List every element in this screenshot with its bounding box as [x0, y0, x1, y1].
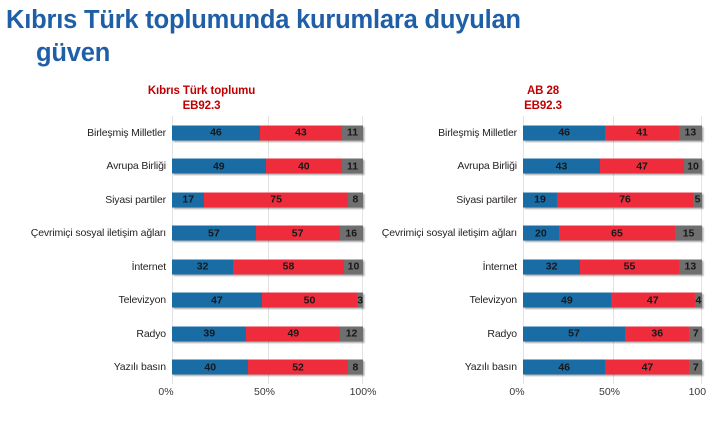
page-title-line-1: Kıbrıs Türk toplumunda kurumlara duyulan — [6, 6, 521, 34]
stacked-bar: 434710 — [523, 159, 702, 174]
bar-segment-distrust: 41 — [605, 125, 678, 140]
bar-row: Radyo394912 — [18, 317, 363, 351]
bar-track: 464311 — [172, 116, 363, 150]
bar-segment-trust: 49 — [523, 293, 611, 308]
bar-row-label: Radyo — [18, 328, 172, 340]
bar-segment-dont-know: 4 — [695, 293, 702, 308]
bar-segment-distrust: 47 — [605, 360, 689, 375]
axis-tick: 0% — [158, 386, 173, 398]
bar-track: 46477 — [523, 351, 702, 385]
chart-subtitle-right-title: AB 28 — [384, 84, 702, 99]
bar-row-label: Yazılı basın — [372, 361, 523, 373]
bar-row: Çevrimiçi sosyal iletişim ağları575716 — [18, 217, 363, 251]
bar-row-label: Siyasi partiler — [372, 194, 523, 206]
bar-segment-distrust: 36 — [625, 326, 689, 341]
bar-segment-dont-know: 12 — [340, 326, 363, 341]
stacked-bar: 49474 — [523, 293, 702, 308]
x-axis-right: 0%50%100% — [372, 384, 702, 404]
bar-segment-distrust: 47 — [600, 159, 684, 174]
bar-segment-dont-know: 16 — [340, 226, 364, 241]
bar-segment-trust: 57 — [523, 326, 625, 341]
bar-row: Siyasi partiler17758 — [18, 183, 363, 217]
bar-row: Siyasi partiler19765 — [372, 183, 702, 217]
bar-segment-dont-know: 11 — [342, 125, 363, 140]
page-title: Kıbrıs Türk toplumunda kurumlara duyulan… — [6, 4, 696, 69]
bar-segment-distrust: 65 — [559, 226, 675, 241]
bar-track: 464113 — [523, 116, 702, 150]
bar-segment-distrust: 76 — [557, 192, 693, 207]
bar-segment-dont-know: 10 — [344, 259, 363, 274]
bar-segment-distrust: 58 — [233, 259, 344, 274]
stacked-bar: 325513 — [523, 259, 702, 274]
bar-track: 40528 — [172, 351, 363, 385]
bar-segment-distrust: 75 — [204, 192, 347, 207]
bar-segment-distrust: 47 — [611, 293, 695, 308]
bar-row-label: Avrupa Birliği — [18, 160, 172, 172]
bar-segment-trust: 40 — [172, 360, 248, 375]
chart-subtitle-left-title: Kıbrıs Türk toplumu — [40, 84, 363, 99]
bar-row: Birleşmiş Milletler464311 — [18, 116, 363, 150]
bar-segment-trust: 32 — [523, 259, 580, 274]
chart-subtitle-left-survey: EB92.3 — [40, 99, 363, 114]
bar-row-label: Yazılı basın — [18, 361, 172, 373]
bar-row-label: Çevrimiçi sosyal iletişim ağları — [18, 227, 172, 239]
bar-row: Yazılı basın46477 — [372, 351, 702, 385]
bar-row-label: Avrupa Birliği — [372, 160, 523, 172]
chart-panel-cypriot-turkish: Kıbrıs Türk toplumu EB92.3 Birleşmiş Mil… — [18, 84, 363, 414]
bar-segment-trust: 19 — [523, 192, 557, 207]
chart-subtitle-right: AB 28 EB92.3 — [372, 84, 702, 114]
bar-segment-distrust: 52 — [248, 360, 347, 375]
bar-row-label: Televizyon — [372, 294, 523, 306]
bar-row-label: İnternet — [18, 261, 172, 273]
bar-row: Televizyon47503 — [18, 284, 363, 318]
bar-row-label: Birleşmiş Milletler — [18, 127, 172, 139]
bar-row: Yazılı basın40528 — [18, 351, 363, 385]
bar-row: Avrupa Birliği434710 — [372, 150, 702, 184]
bar-track: 434710 — [523, 150, 702, 184]
bar-row: Avrupa Birliği494011 — [18, 150, 363, 184]
page-title-line-2: güven — [6, 37, 696, 70]
bar-segment-dont-know: 11 — [342, 159, 363, 174]
bar-segment-dont-know: 10 — [684, 159, 702, 174]
bar-segment-trust: 20 — [523, 226, 559, 241]
bar-segment-dont-know: 8 — [348, 192, 363, 207]
stacked-bar: 464113 — [523, 125, 702, 140]
stacked-bar: 17758 — [172, 192, 363, 207]
bar-track: 49474 — [523, 284, 702, 318]
bar-segment-dont-know: 7 — [689, 326, 702, 341]
axis-tick: 0% — [509, 386, 524, 398]
x-axis-left: 0%50%100% — [18, 384, 363, 404]
bar-segment-dont-know: 7 — [689, 360, 702, 375]
stacked-bar: 57367 — [523, 326, 702, 341]
bar-segment-dont-know: 15 — [675, 226, 702, 241]
bar-row: Birleşmiş Milletler464113 — [372, 116, 702, 150]
bar-row: Televizyon49474 — [372, 284, 702, 318]
x-axis-left-inner: 0%50%100% — [166, 384, 363, 404]
bar-segment-trust: 47 — [172, 293, 262, 308]
bar-track: 394912 — [172, 317, 363, 351]
bar-track: 494011 — [172, 150, 363, 184]
chart-panel-eu28: AB 28 EB92.3 Birleşmiş Milletler464113Av… — [372, 84, 702, 414]
bar-rows-right: Birleşmiş Milletler464113Avrupa Birliği4… — [372, 116, 702, 384]
bar-row-label: Birleşmiş Milletler — [372, 127, 523, 139]
stacked-bar: 19765 — [523, 192, 702, 207]
bar-row-label: Siyasi partiler — [18, 194, 172, 206]
bar-segment-distrust: 43 — [260, 125, 342, 140]
bar-segment-trust: 39 — [172, 326, 246, 341]
stacked-bar: 464311 — [172, 125, 363, 140]
bar-track: 47503 — [172, 284, 363, 318]
bar-row-label: İnternet — [372, 261, 523, 273]
bar-segment-distrust: 49 — [246, 326, 340, 341]
axis-tick: 100% — [689, 386, 706, 398]
bar-segment-trust: 46 — [523, 125, 605, 140]
bar-row-label: Televizyon — [18, 294, 172, 306]
bar-track: 206515 — [523, 217, 702, 251]
bar-segment-trust: 46 — [523, 360, 605, 375]
stacked-bar: 206515 — [523, 226, 702, 241]
bar-segment-dont-know: 5 — [693, 192, 702, 207]
bar-track: 325810 — [172, 250, 363, 284]
bar-segment-distrust: 40 — [266, 159, 342, 174]
plot-area-left: Birleşmiş Milletler464311Avrupa Birliği4… — [18, 116, 363, 414]
bar-row-label: Radyo — [372, 328, 523, 340]
chart-subtitle-left: Kıbrıs Türk toplumu EB92.3 — [18, 84, 363, 114]
plot-area-right: Birleşmiş Milletler464113Avrupa Birliği4… — [372, 116, 702, 414]
chart-subtitle-right-survey: EB92.3 — [384, 99, 702, 114]
axis-tick: 50% — [254, 386, 275, 398]
x-axis-right-inner: 0%50%100% — [517, 384, 702, 404]
bar-segment-trust: 43 — [523, 159, 600, 174]
stacked-bar: 394912 — [172, 326, 363, 341]
bar-segment-dont-know: 13 — [679, 125, 702, 140]
bar-segment-trust: 46 — [172, 125, 260, 140]
stacked-bar: 47503 — [172, 293, 363, 308]
bar-track: 19765 — [523, 183, 702, 217]
bar-segment-trust: 17 — [172, 192, 204, 207]
bar-row: İnternet325810 — [18, 250, 363, 284]
bar-track: 57367 — [523, 317, 702, 351]
stacked-bar: 40528 — [172, 360, 363, 375]
bar-row: Çevrimiçi sosyal iletişim ağları206515 — [372, 217, 702, 251]
axis-tick: 50% — [599, 386, 620, 398]
bar-segment-distrust: 50 — [262, 293, 358, 308]
bar-track: 575716 — [172, 217, 363, 251]
bar-segment-trust: 32 — [172, 259, 233, 274]
bar-segment-distrust: 55 — [580, 259, 678, 274]
bar-segment-dont-know: 3 — [357, 293, 363, 308]
bar-segment-trust: 57 — [172, 226, 256, 241]
bar-segment-trust: 49 — [172, 159, 266, 174]
bar-row: Radyo57367 — [372, 317, 702, 351]
bar-row: İnternet325513 — [372, 250, 702, 284]
stacked-bar: 494011 — [172, 159, 363, 174]
stacked-bar: 575716 — [172, 226, 363, 241]
bar-segment-distrust: 57 — [256, 226, 340, 241]
stacked-bar: 325810 — [172, 259, 363, 274]
bar-segment-dont-know: 8 — [348, 360, 363, 375]
bar-segment-dont-know: 13 — [679, 259, 702, 274]
bar-row-label: Çevrimiçi sosyal iletişim ağları — [372, 227, 523, 239]
bar-rows-left: Birleşmiş Milletler464311Avrupa Birliği4… — [18, 116, 363, 384]
stacked-bar: 46477 — [523, 360, 702, 375]
bar-track: 325513 — [523, 250, 702, 284]
bar-track: 17758 — [172, 183, 363, 217]
